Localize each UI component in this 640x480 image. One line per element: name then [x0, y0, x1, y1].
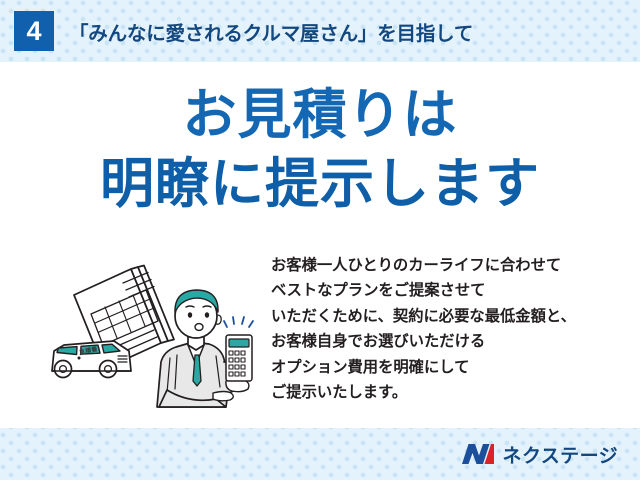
body-line: お客様一人ひとりのカーライフに合わせて [271, 253, 631, 278]
nextage-n-logo-icon [461, 442, 495, 466]
headline-group: お見積りは 明瞭に提示します [0, 84, 640, 215]
step-number-badge: 4 [14, 11, 54, 51]
body-line: いただくために、契約に必要な最低金額と、 [271, 304, 631, 329]
footer-bar: ネクステージ [0, 428, 640, 480]
body-copy: お客様一人ひとりのカーライフに合わせて ベストなプランをご提案させて いただくた… [271, 253, 631, 405]
body-line: ご提示いたします。 [271, 380, 631, 405]
brand-logo: ネクステージ [461, 441, 618, 468]
header-bar: 4 「みんなに愛されるクルマ屋さん」を目指して [0, 0, 640, 62]
illustration: 見積書 [30, 259, 270, 414]
sparkle-icon [224, 317, 253, 327]
calculator-icon [226, 335, 252, 381]
content-panel: お見積りは 明瞭に提示します お客様一人ひとりのカーライフに合わせて ベストなプ… [0, 62, 640, 428]
brand-name: ネクステージ [503, 441, 618, 468]
body-line: お客様自身でお選びいただける [271, 329, 631, 354]
headline-line-2: 明瞭に提示します [0, 153, 640, 216]
advertisement-page: 4 「みんなに愛されるクルマ屋さん」を目指して お見積りは 明瞭に提示します お… [0, 0, 640, 480]
body-line: ベストなプランをご提案させて [271, 278, 631, 303]
salesman-illustration-svg [30, 259, 270, 414]
body-line: オプション費用を明確にして [271, 355, 631, 380]
headline-line-1: お見積りは [0, 84, 640, 147]
header-title: 「みんなに愛されるクルマ屋さん」を目指して [69, 17, 473, 46]
